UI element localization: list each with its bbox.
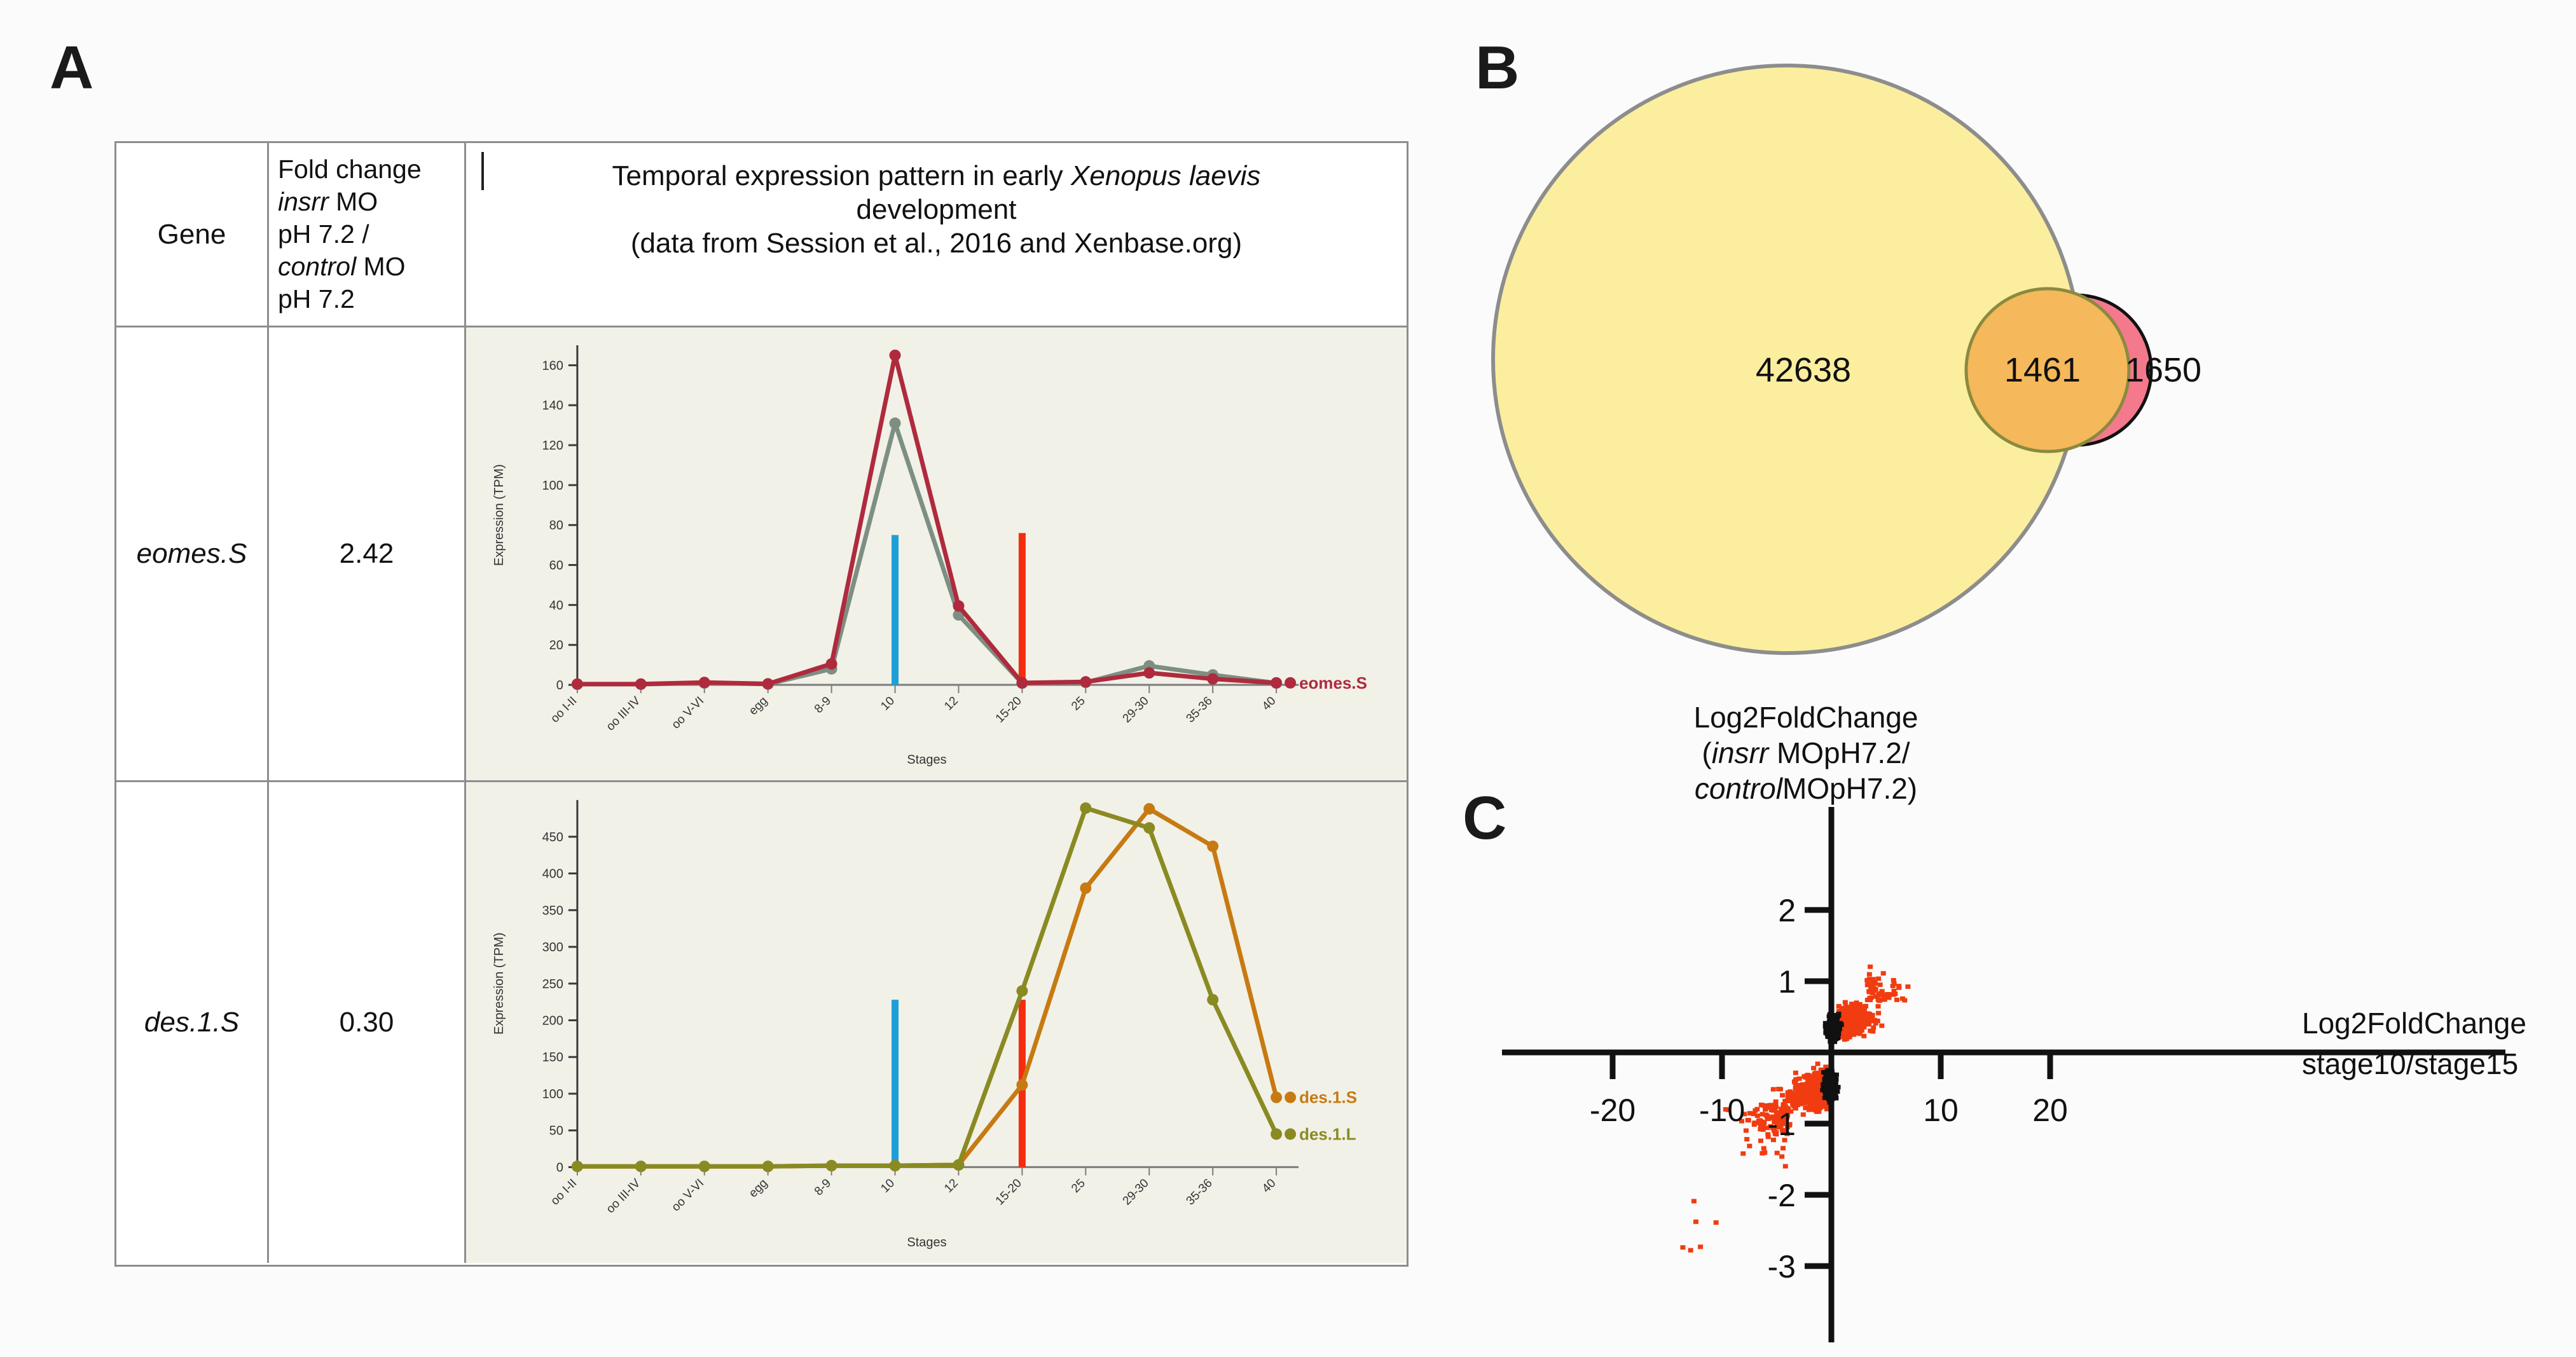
scatter-point: [1867, 972, 1872, 977]
scatter-point: [1894, 998, 1899, 1002]
venn-caption-insrr: insrr: [1712, 736, 1768, 769]
x-tick-label: oo V-VI: [669, 694, 706, 732]
data-point: [699, 677, 710, 688]
data-point: [890, 1160, 901, 1171]
scatter-point: [1843, 1000, 1848, 1005]
data-point: [1271, 1092, 1282, 1103]
gene-expression-table: Gene Fold change insrr MO pH 7.2 / contr…: [114, 141, 1409, 1267]
x-tick-label: oo III-IV: [604, 1176, 644, 1216]
venn-caption: Log2FoldChange (insrr MOpH7.2/ controlMO…: [1526, 699, 2086, 806]
panel-a-label: A: [50, 33, 93, 103]
scatter-point: [1812, 1106, 1817, 1111]
scatter-point: [1844, 1019, 1849, 1023]
venn-count-overlap: 1461: [2004, 351, 2081, 389]
scatter-point: [1744, 1137, 1749, 1141]
scatter-point: [1800, 1088, 1805, 1092]
gene-label: des.1.S: [144, 1007, 239, 1038]
scatter-point: [1865, 983, 1870, 988]
y-tick-label: 100: [542, 1087, 563, 1101]
venn-caption-paren-open: (: [1702, 736, 1711, 769]
data-point: [1016, 677, 1028, 689]
y-tick-label: 0: [556, 1161, 563, 1174]
x-tick-label: 25: [1069, 1176, 1088, 1195]
scatter-point: [1905, 984, 1910, 989]
data-point: [1143, 803, 1155, 815]
scatter-point: [1771, 1087, 1776, 1092]
scatter-point: [1805, 1098, 1810, 1103]
des1-chart: 050100150200250300350400450Expression (T…: [466, 782, 1407, 1263]
series-label-eomes.S: eomes.S: [1299, 673, 1367, 692]
chart-title-species: Xenopus laevis: [1071, 160, 1260, 191]
legend-marker-des.1.S: [1285, 1092, 1296, 1103]
scatter-point: [1876, 1004, 1881, 1009]
scatter-point: [1789, 1095, 1794, 1099]
scatter-point: [1688, 1248, 1693, 1253]
scatter-point: [1779, 1154, 1784, 1159]
y-axis-title: Expression (TPM): [492, 464, 506, 566]
series-line-des.1.L: [577, 808, 1276, 1166]
cell-gene-name: des.1.S: [116, 782, 269, 1263]
y-tick-label: 50: [549, 1124, 563, 1138]
scatter-point: [1761, 1103, 1766, 1108]
fc-header-gene-italic: insrr: [278, 187, 329, 216]
scatter-point: [1863, 1011, 1868, 1016]
y-tick-label: 200: [542, 1014, 563, 1028]
data-point: [1207, 841, 1218, 852]
x-tick-label: 20: [2032, 1092, 2068, 1128]
scatter-point: [1693, 1220, 1698, 1224]
data-point: [1143, 667, 1155, 678]
venn-count-small: 1650: [2125, 351, 2201, 389]
y-tick-label: 0: [556, 678, 563, 692]
data-point: [1080, 883, 1091, 894]
header-tick-mark: [481, 152, 484, 190]
data-point: [953, 1159, 964, 1171]
data-point: [572, 1161, 583, 1172]
scatter-point: [1815, 1061, 1821, 1066]
scatter-point: [1812, 1071, 1817, 1076]
table-header-row: Gene Fold change insrr MO pH 7.2 / contr…: [116, 143, 1407, 327]
scatter-point: [1761, 1124, 1766, 1129]
scatter-point: [1776, 1087, 1781, 1091]
x-tick-label: 12: [942, 1176, 961, 1195]
fold-change-value: 2.42: [340, 538, 394, 570]
scatter-point: [1856, 1008, 1861, 1012]
scatter-point: [1854, 1031, 1859, 1035]
scatter-point: [1780, 1146, 1786, 1150]
x-axis-title-line2: stage10/stage15: [2302, 1047, 2518, 1080]
y-tick-label: -1: [1768, 1106, 1796, 1142]
y-tick-label: -2: [1768, 1178, 1796, 1213]
chart-column-title: Temporal expression pattern in early Xen…: [466, 143, 1407, 260]
scatter-point: [1857, 1012, 1863, 1017]
gene-label: eomes.S: [137, 538, 247, 570]
data-point: [1207, 994, 1218, 1005]
scatter-point: [1811, 1101, 1816, 1105]
y-tick-label: 350: [542, 904, 563, 918]
data-point: [890, 418, 901, 429]
scatter-point: [1793, 1071, 1798, 1075]
scatter-point: [1864, 1021, 1869, 1026]
scatter-point: [1847, 1006, 1852, 1010]
scatter-point: [1849, 1028, 1854, 1033]
cell-chart-eomes: 020406080100120140160Expression (TPM)oo …: [466, 327, 1407, 780]
fc-header-line5: pH 7.2: [278, 284, 355, 313]
x-tick-label: 10: [878, 694, 897, 713]
data-point: [762, 678, 774, 689]
venn-caption-line2-rest: MOpH7.2/: [1768, 736, 1910, 769]
scatter-point: [1881, 971, 1886, 975]
data-point: [1016, 985, 1028, 996]
scatter-point: [1876, 977, 1881, 981]
scatter-point: [1867, 996, 1872, 1000]
scatter-point: [1857, 1017, 1862, 1022]
scatter-point: [1877, 992, 1882, 996]
y-tick-label: 40: [549, 598, 563, 612]
y-tick-label: 250: [542, 977, 563, 991]
scatter-point: [1870, 982, 1875, 986]
cell-chart-des1: 050100150200250300350400450Expression (T…: [466, 782, 1407, 1263]
scatter-point: [1822, 1105, 1828, 1109]
x-tick-label: -10: [1699, 1092, 1745, 1128]
scatter-point: [1811, 1066, 1816, 1070]
x-tick-label: 15-20: [993, 694, 1024, 726]
fc-header-line4-rest: MO: [356, 252, 405, 281]
series-label-des.1.S: des.1.S: [1299, 1088, 1357, 1107]
y-tick-label: 60: [549, 559, 563, 573]
venn-count-large: 42638: [1756, 351, 1851, 389]
x-tick-label: 8-9: [812, 694, 834, 716]
legend-marker-eomes.S: [1285, 677, 1296, 689]
scatter-point: [1843, 1010, 1849, 1015]
scatter-point: [1803, 1075, 1808, 1080]
scatter-point: [1811, 1080, 1816, 1085]
scatter-point: [1896, 986, 1901, 990]
x-tick-label: 12: [942, 694, 961, 713]
venn-svg: 42638 1461 1650: [1475, 45, 2238, 687]
scatter-point: [1843, 1026, 1849, 1031]
des1-chart-svg: 050100150200250300350400450Expression (T…: [466, 782, 1407, 1263]
y-tick-label: 20: [549, 638, 563, 652]
scatter-point: [1808, 1087, 1813, 1092]
scatter-point: [1879, 1024, 1884, 1028]
scatter-point: [1807, 1108, 1812, 1112]
fc-header-line3: pH 7.2 /: [278, 219, 369, 249]
x-tick-label: 8-9: [812, 1176, 834, 1198]
series-line-eomes.L: [577, 424, 1276, 685]
scatter-point: [1823, 1085, 1828, 1089]
scatter-point: [1882, 994, 1887, 998]
data-point: [1271, 1128, 1282, 1140]
scatter-point: [1902, 998, 1907, 1003]
scatter-point: [1867, 977, 1872, 981]
venn-caption-line1: Log2FoldChange: [1694, 701, 1918, 734]
x-tick-label: 40: [1260, 694, 1279, 713]
x-tick-label: 10: [878, 1176, 897, 1195]
x-tick-label: oo I-II: [548, 694, 579, 726]
scatter-point: [1807, 1080, 1812, 1085]
y-tick-label: -3: [1768, 1249, 1796, 1285]
scatter-point: [1746, 1118, 1751, 1122]
scatter-point: [1792, 1099, 1797, 1103]
scatter-point: [1761, 1146, 1767, 1150]
x-tick-label: 25: [1069, 694, 1088, 713]
data-point: [699, 1161, 710, 1172]
eomes-chart: 020406080100120140160Expression (TPM)oo …: [466, 327, 1407, 780]
scatter-point: [1877, 998, 1882, 1003]
data-point: [1080, 802, 1091, 814]
chart-title-line2: development: [857, 194, 1017, 225]
scatter-point: [1758, 1139, 1763, 1143]
series-line-des.1.S: [577, 809, 1276, 1166]
scatter-point: [1744, 1128, 1749, 1133]
x-tick-label: 15-20: [993, 1176, 1024, 1208]
scatter-point: [1752, 1122, 1757, 1127]
y-tick-label: 400: [542, 867, 563, 881]
data-point: [826, 1160, 837, 1171]
header-cell-fold-change: Fold change insrr MO pH 7.2 / control MO…: [269, 143, 466, 326]
x-tick-label: egg: [747, 694, 770, 718]
scatter-point: [1872, 1018, 1877, 1023]
fc-header-line2-rest: MO: [329, 187, 378, 216]
eomes-chart-svg: 020406080100120140160Expression (TPM)oo …: [466, 327, 1407, 780]
table-row: eomes.S 2.42 020406080100120140160Expres…: [116, 327, 1407, 782]
data-point: [635, 1161, 647, 1172]
data-point: [635, 678, 647, 690]
scatter-point: [1888, 993, 1893, 997]
scatter-point: [1876, 1011, 1881, 1016]
y-tick-label: 300: [542, 940, 563, 954]
scatter-point: [1691, 1199, 1697, 1203]
x-tick-label: 10: [1923, 1092, 1959, 1128]
y-tick-label: 150: [542, 1050, 563, 1064]
cell-fold-change: 2.42: [269, 327, 466, 780]
x-tick-label: oo I-II: [548, 1176, 579, 1208]
y-tick-label: 1: [1778, 964, 1796, 1000]
scatter-point: [1753, 1108, 1758, 1113]
series-label-des.1.L: des.1.L: [1299, 1124, 1356, 1143]
scatter-point: [1758, 1118, 1763, 1122]
data-point: [1016, 1079, 1028, 1091]
scatter-plot: -20-10102021-1-2-3Log2FoldChangestage10/…: [1456, 798, 2575, 1354]
scatter-point: [1801, 1112, 1806, 1117]
scatter-point: [1818, 1106, 1823, 1110]
column-header-fold-change: Fold change insrr MO pH 7.2 / control MO…: [269, 153, 464, 315]
data-point: [826, 658, 837, 670]
y-tick-label: 140: [542, 399, 563, 413]
y-tick-label: 80: [549, 519, 563, 533]
scatter-point: [1878, 982, 1883, 987]
y-tick-label: 160: [542, 359, 563, 373]
scatter-point: [1816, 1110, 1821, 1114]
y-tick-label: 450: [542, 830, 563, 844]
data-point: [572, 678, 583, 690]
scatter-point: [1839, 1006, 1844, 1010]
x-tick-label: egg: [747, 1176, 770, 1200]
venn-diagram: 42638 1461 1650: [1475, 45, 2238, 687]
scatter-point: [1796, 1077, 1801, 1081]
scatter-point: [1780, 1093, 1785, 1098]
scatter-point: [1762, 1150, 1767, 1155]
data-point: [1080, 676, 1091, 687]
scatter-point: [1740, 1152, 1746, 1156]
data-point: [1143, 822, 1155, 834]
x-tick-label: 40: [1260, 1176, 1279, 1195]
x-tick-label: 35-36: [1184, 1176, 1215, 1208]
scatter-point: [1823, 1028, 1828, 1032]
cell-gene-name: eomes.S: [116, 327, 269, 780]
y-tick-label: 100: [542, 479, 563, 493]
header-cell-gene: Gene: [116, 143, 269, 326]
x-axis-title-line1: Log2FoldChange: [2302, 1007, 2526, 1040]
scatter-point: [1868, 965, 1873, 969]
fold-change-value: 0.30: [340, 1007, 394, 1038]
x-axis-title: Stages: [907, 1236, 946, 1250]
scatter-point: [1775, 1151, 1780, 1155]
cell-fold-change: 0.30: [269, 782, 466, 1263]
scatter-point: [1851, 1013, 1856, 1017]
fc-header-control-italic: control: [278, 252, 356, 281]
scatter-point: [1891, 984, 1896, 988]
scatter-point: [1680, 1245, 1685, 1250]
y-tick-label: 120: [542, 439, 563, 453]
scatter-point: [1868, 1028, 1873, 1033]
data-point: [890, 350, 901, 361]
scatter-svg: -20-10102021-1-2-3Log2FoldChangestage10/…: [1456, 798, 2575, 1354]
x-tick-label: 29-30: [1120, 694, 1152, 726]
scatter-point: [1858, 1023, 1863, 1027]
y-axis-title: Expression (TPM): [492, 932, 506, 1035]
data-point: [762, 1161, 774, 1172]
legend-marker-des.1.L: [1285, 1128, 1296, 1140]
fc-header-line1: Fold change: [278, 155, 422, 184]
chart-title-line1a: Temporal expression pattern in early: [612, 160, 1071, 191]
table-row: des.1.S 0.30 050100150200250300350400450…: [116, 782, 1407, 1263]
header-cell-chart-title: Temporal expression pattern in early Xen…: [466, 143, 1407, 326]
data-point: [953, 600, 964, 612]
scatter-point: [1714, 1220, 1719, 1225]
scatter-point: [1747, 1144, 1752, 1148]
scatter-point: [1755, 1113, 1760, 1118]
scatter-point: [1783, 1164, 1788, 1169]
x-tick-label: -20: [1590, 1092, 1636, 1128]
data-point: [1271, 677, 1282, 689]
x-tick-label: 35-36: [1184, 694, 1215, 726]
scatter-point: [1747, 1111, 1753, 1115]
y-tick-label: 2: [1778, 893, 1796, 928]
data-point: [1207, 673, 1218, 685]
x-tick-label: oo III-IV: [604, 694, 644, 733]
x-tick-label: 29-30: [1120, 1176, 1152, 1208]
column-header-gene: Gene: [158, 219, 226, 251]
x-tick-label: oo V-VI: [669, 1176, 706, 1214]
x-axis-title: Stages: [907, 753, 946, 767]
chart-title-line3: (data from Session et al., 2016 and Xenb…: [631, 228, 1242, 259]
scatter-point: [1698, 1244, 1703, 1249]
